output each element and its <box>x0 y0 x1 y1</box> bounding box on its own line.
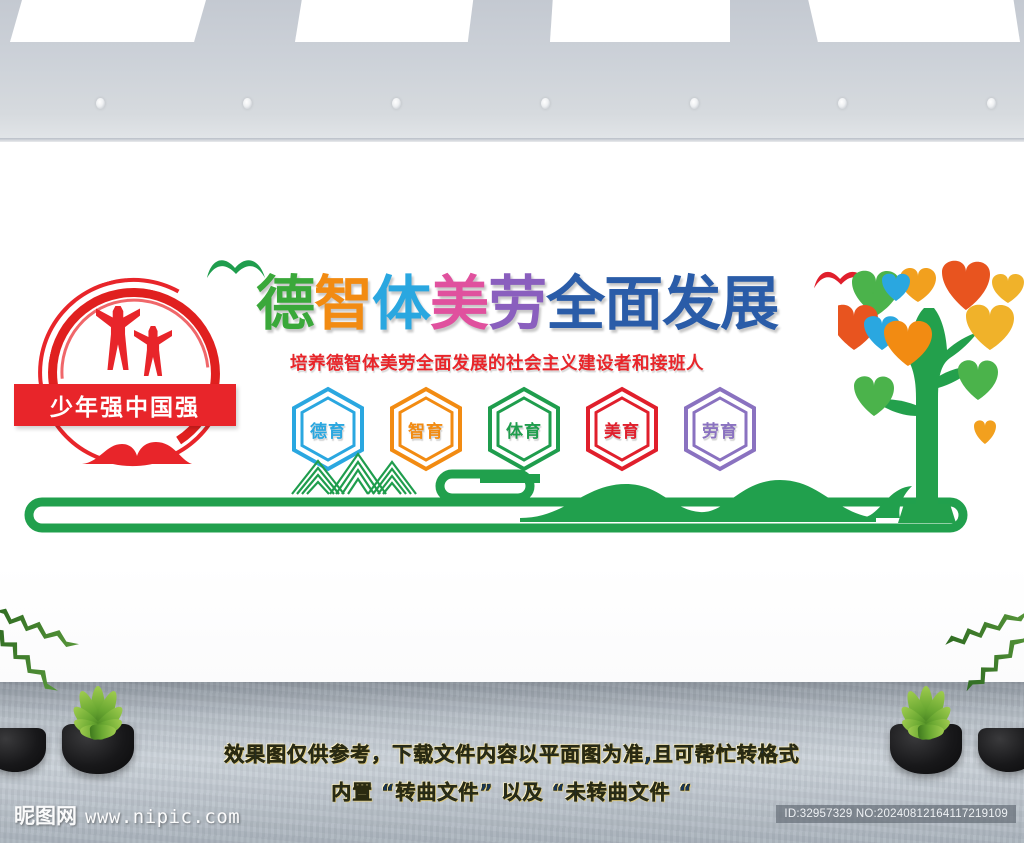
ceiling-light-panel <box>295 0 475 42</box>
ceiling-light-panel <box>10 0 210 42</box>
main-title: 德智体美劳全面发展 <box>256 274 778 333</box>
ceiling <box>0 0 1024 142</box>
watermark-brand-url: www.nipic.com <box>85 806 240 828</box>
logo-banner: 少年强中国强 <box>14 384 236 426</box>
ceiling-light-panel <box>805 0 1020 42</box>
title-char-zhi: 智 <box>314 269 372 338</box>
downlight-icon <box>96 98 105 109</box>
title-char-fa: 发 <box>662 269 720 338</box>
title-char-mei: 美 <box>430 269 488 338</box>
heart-tree-icon <box>838 258 1024 523</box>
title-char-mian: 面 <box>604 269 662 338</box>
downlight-icon <box>838 98 847 109</box>
downlight-icon <box>987 98 996 109</box>
title-char-de: 德 <box>256 269 314 338</box>
title-char-lao: 劳 <box>488 269 546 338</box>
downlight-icon <box>541 98 550 109</box>
title-char-quan: 全 <box>546 269 604 338</box>
watermark-id: ID:32957329 NO:20240812164117219109 <box>776 805 1016 823</box>
footer-line-1: 效果图仅供参考，下载文件内容以平面图为准,且可帮忙转格式 <box>0 735 1024 773</box>
room-scene: 少年强中国强 德智体美劳全面发展 培养德智体美劳全面发展的社会主义建设者和接班人 <box>0 0 1024 843</box>
downlight-icon <box>243 98 252 109</box>
downlight-icon <box>690 98 699 109</box>
ceiling-light-panel <box>550 0 730 42</box>
line-art-mountains-icon <box>292 454 416 494</box>
wall-culture-graphic: 少年强中国强 德智体美劳全面发展 培养德智体美劳全面发展的社会主义建设者和接班人 <box>0 240 1024 540</box>
subtitle: 培养德智体美劳全面发展的社会主义建设者和接班人 <box>290 350 704 375</box>
watermark-brand: 昵图网 www.nipic.com <box>14 800 240 830</box>
logo-banner-text: 少年强中国强 <box>50 388 200 422</box>
downlight-icon <box>392 98 401 109</box>
title-char-ti: 体 <box>372 269 430 338</box>
title-char-zhan: 展 <box>720 269 778 338</box>
watermark-brand-cn: 昵图网 <box>14 800 77 830</box>
